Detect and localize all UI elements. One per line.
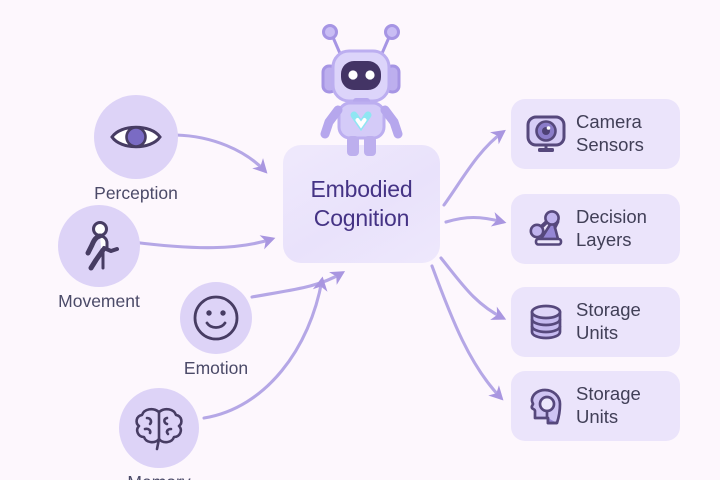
output-card-cognition-head[interactable]: Storage Units (511, 371, 680, 441)
smiley-face-icon (191, 293, 241, 343)
arrow-emotion-to-center (252, 273, 342, 297)
output-card-label: Storage Units (576, 299, 641, 344)
output-card-label: Decision Layers (576, 206, 647, 251)
output-label-line2: Units (576, 322, 618, 343)
input-node-emotion[interactable]: Emotion (170, 282, 262, 379)
output-label-line1: Storage (576, 299, 641, 320)
center-node-label: Embodied Cognition (311, 175, 413, 234)
input-node-label: Perception (84, 183, 188, 204)
input-node-perception[interactable]: Perception (84, 95, 188, 204)
input-node-memory[interactable]: Memory (112, 388, 206, 480)
arrow-center-to-storage (441, 258, 503, 318)
input-node-bubble (58, 205, 140, 287)
eye-icon (108, 117, 164, 157)
output-card-storage-units[interactable]: Storage Units (511, 287, 680, 357)
output-label-line2: Layers (576, 229, 632, 250)
output-label-line1: Camera (576, 111, 642, 132)
arrow-center-to-cognition (432, 266, 501, 398)
database-icon (523, 299, 569, 345)
arrow-center-to-camera (444, 132, 503, 205)
input-node-label: Memory (112, 472, 206, 480)
input-node-bubble (180, 282, 252, 354)
center-label-line1: Embodied (311, 176, 413, 202)
output-card-label: Storage Units (576, 383, 641, 428)
output-label-line1: Decision (576, 206, 647, 227)
walking-person-icon (77, 220, 121, 272)
brain-icon (133, 404, 185, 452)
output-card-decision-layers[interactable]: Decision Layers (511, 194, 680, 264)
center-label-line2: Cognition (314, 205, 409, 231)
robot-mascot-icon (295, 18, 427, 158)
arrow-center-to-decision (446, 218, 503, 223)
center-node[interactable]: Embodied Cognition (283, 145, 440, 263)
output-label-line2: Units (576, 406, 618, 427)
input-node-bubble (119, 388, 199, 468)
arrow-perception-to-center (176, 135, 265, 171)
head-profile-icon (523, 383, 569, 429)
input-node-label: Movement (44, 291, 154, 312)
robot-arm-icon (523, 206, 569, 252)
output-card-camera-sensors[interactable]: Camera Sensors (511, 99, 680, 169)
output-label-line1: Storage (576, 383, 641, 404)
output-card-label: Camera Sensors (576, 111, 644, 156)
camera-icon (523, 111, 569, 157)
input-node-bubble (94, 95, 178, 179)
diagram-canvas: Embodied Cognition Perception (0, 0, 720, 480)
output-label-line2: Sensors (576, 134, 644, 155)
input-node-movement[interactable]: Movement (44, 205, 154, 312)
input-node-label: Emotion (170, 358, 262, 379)
